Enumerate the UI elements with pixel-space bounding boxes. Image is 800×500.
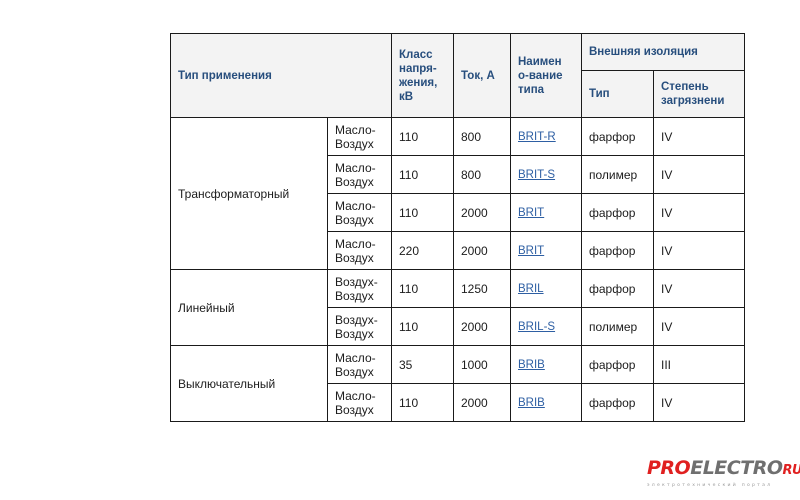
cell-application-kind: Выключательный — [171, 346, 328, 422]
cell-pollution-degree: IV — [654, 118, 745, 156]
cell-voltage-class: 110 — [392, 384, 454, 422]
type-name-link[interactable]: BRIT-R — [518, 131, 556, 143]
type-name-link[interactable]: BRIB — [518, 397, 545, 409]
logo-text-pro: PRO — [647, 457, 690, 479]
proelectro-logo: PROELECTRORU электротехнический портал — [647, 458, 782, 488]
cell-insulation-type: полимер — [582, 156, 654, 194]
cell-type-name: BRIB — [511, 384, 582, 422]
cell-type-name: BRIT — [511, 232, 582, 270]
cell-current: 2000 — [454, 384, 511, 422]
cell-insulation-type: фарфор — [582, 118, 654, 156]
column-header-insulation-type: Тип — [582, 71, 654, 118]
cell-pollution-degree: IV — [654, 384, 745, 422]
cell-current: 1250 — [454, 270, 511, 308]
type-name-link[interactable]: BRIT-S — [518, 169, 555, 181]
cell-type-name: BRIT — [511, 194, 582, 232]
cell-type-name: BRIL — [511, 270, 582, 308]
cell-medium: Масло-Воздух — [328, 232, 392, 270]
cell-medium: Масло-Воздух — [328, 384, 392, 422]
cell-insulation-type: полимер — [582, 308, 654, 346]
page-canvas: Тип применения Класс напря-жения, кВ Ток… — [0, 0, 800, 500]
cell-current: 1000 — [454, 346, 511, 384]
cell-pollution-degree: IV — [654, 308, 745, 346]
cell-type-name: BRIT-S — [511, 156, 582, 194]
cell-current: 800 — [454, 156, 511, 194]
cell-medium: Масло-Воздух — [328, 346, 392, 384]
cell-medium: Масло-Воздух — [328, 118, 392, 156]
cell-medium: Воздух-Воздух — [328, 270, 392, 308]
cell-pollution-degree: III — [654, 346, 745, 384]
cell-type-name: BRIB — [511, 346, 582, 384]
cell-current: 2000 — [454, 232, 511, 270]
logo-wordmark: PROELECTRORU — [647, 458, 782, 481]
column-header-type-name: Наимен о-вание типа — [511, 34, 582, 118]
column-header-pollution-degree: Степень загрязнени — [654, 71, 745, 118]
type-name-link[interactable]: BRIL — [518, 283, 544, 295]
cell-medium: Масло-Воздух — [328, 194, 392, 232]
header-row-top: Тип применения Класс напря-жения, кВ Ток… — [171, 34, 745, 71]
cell-pollution-degree: IV — [654, 156, 745, 194]
cell-pollution-degree: IV — [654, 194, 745, 232]
logo-tagline: электротехнический портал — [647, 482, 782, 489]
cell-insulation-type: фарфор — [582, 270, 654, 308]
type-name-link[interactable]: BRIT — [518, 245, 544, 257]
type-name-link[interactable]: BRIL-S — [518, 321, 555, 333]
cell-pollution-degree: IV — [654, 232, 745, 270]
cell-medium: Масло-Воздух — [328, 156, 392, 194]
column-header-kind: Тип применения — [171, 34, 392, 118]
table-row: ЛинейныйВоздух-Воздух1101250BRILфарфорIV — [171, 270, 745, 308]
type-name-link[interactable]: BRIT — [518, 207, 544, 219]
cell-voltage-class: 110 — [392, 308, 454, 346]
table-header: Тип применения Класс напря-жения, кВ Ток… — [171, 34, 745, 118]
logo-text-electro: ELECTRO — [690, 457, 782, 479]
table-row: ВыключательныйМасло-Воздух351000BRIBфарф… — [171, 346, 745, 384]
cell-voltage-class: 110 — [392, 156, 454, 194]
cell-voltage-class: 35 — [392, 346, 454, 384]
cell-current: 800 — [454, 118, 511, 156]
column-header-voltage-class: Класс напря-жения, кВ — [392, 34, 454, 118]
cell-pollution-degree: IV — [654, 270, 745, 308]
logo-text-ru: RU — [782, 463, 800, 478]
cell-current: 2000 — [454, 308, 511, 346]
cell-current: 2000 — [454, 194, 511, 232]
type-name-link[interactable]: BRIB — [518, 359, 545, 371]
cell-voltage-class: 110 — [392, 194, 454, 232]
table-row: ТрансформаторныйМасло-Воздух110800BRIT-R… — [171, 118, 745, 156]
cell-voltage-class: 110 — [392, 270, 454, 308]
cell-type-name: BRIT-R — [511, 118, 582, 156]
cell-insulation-type: фарфор — [582, 346, 654, 384]
column-header-external-insulation: Внешняя изоляция — [582, 34, 745, 71]
cell-insulation-type: фарфор — [582, 194, 654, 232]
table-body: ТрансформаторныйМасло-Воздух110800BRIT-R… — [171, 118, 745, 422]
cell-voltage-class: 110 — [392, 118, 454, 156]
cell-medium: Воздух-Воздух — [328, 308, 392, 346]
cell-application-kind: Линейный — [171, 270, 328, 346]
bushing-specifications-table: Тип применения Класс напря-жения, кВ Ток… — [170, 33, 745, 422]
cell-type-name: BRIL-S — [511, 308, 582, 346]
cell-insulation-type: фарфор — [582, 232, 654, 270]
cell-insulation-type: фарфор — [582, 384, 654, 422]
cell-application-kind: Трансформаторный — [171, 118, 328, 270]
cell-voltage-class: 220 — [392, 232, 454, 270]
column-header-current: Ток, А — [454, 34, 511, 118]
